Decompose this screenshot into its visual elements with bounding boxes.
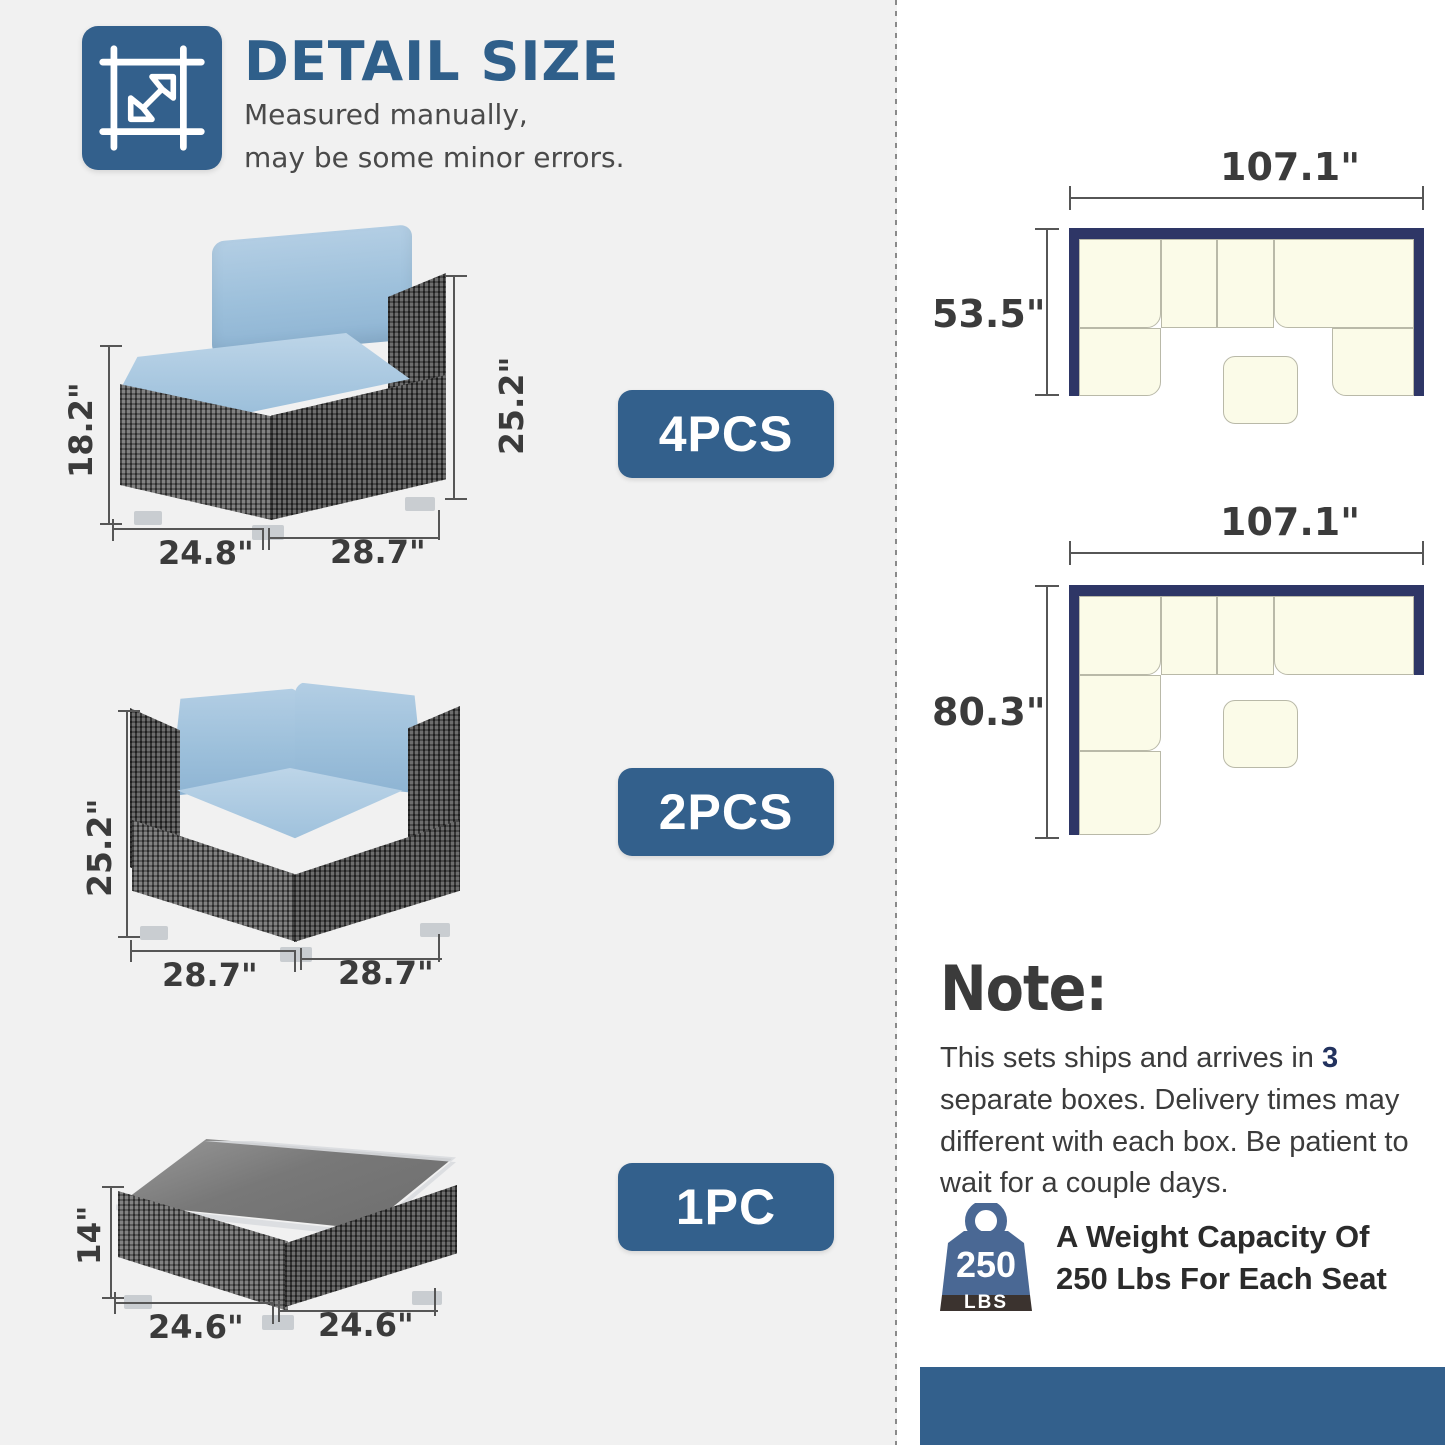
dim-label-table-width: 24.6" xyxy=(318,1306,414,1344)
dim-tick xyxy=(100,345,122,347)
dim-label-corner-height: 25.2" xyxy=(80,798,119,897)
svg-text:LBS: LBS xyxy=(964,1292,1008,1313)
dim-tick xyxy=(1422,186,1424,210)
plan-seat xyxy=(1217,596,1274,675)
dim-tick xyxy=(294,950,296,972)
plan-frame-right xyxy=(1414,585,1424,675)
plan-seat xyxy=(1079,596,1161,675)
dim-tick xyxy=(278,1300,280,1322)
plan-seat xyxy=(1079,239,1161,328)
dim-tick xyxy=(130,940,132,962)
badge-2pcs[interactable]: 2PCS xyxy=(618,768,834,856)
dim-tick xyxy=(300,948,302,970)
note-text-before: This sets ships and arrives in xyxy=(940,1042,1322,1074)
dim-tick xyxy=(272,1302,274,1324)
note-title: Note: xyxy=(940,952,1107,1025)
dim-label-total-height: 25.2" xyxy=(492,356,531,455)
back-cushion xyxy=(212,224,412,356)
armless-chair-illustration xyxy=(100,225,500,545)
dim-tick xyxy=(268,528,270,550)
plan-seat xyxy=(1079,675,1161,751)
corner-foot xyxy=(140,926,168,940)
header-text: DETAIL SIZE Measured manually, may be so… xyxy=(244,26,625,177)
page-title: DETAIL SIZE xyxy=(244,34,625,91)
dim-tick xyxy=(438,934,440,962)
dim-tick xyxy=(445,275,467,277)
plan-table xyxy=(1223,356,1298,424)
dim-tick xyxy=(438,510,440,540)
dim-line-total-height xyxy=(453,275,455,500)
layout2-depth-line xyxy=(1046,585,1048,839)
dim-label-corner-width: 28.7" xyxy=(338,954,434,992)
note-body: This sets ships and arrives in 3 separat… xyxy=(940,1038,1440,1205)
plan-seat xyxy=(1274,239,1414,328)
svg-text:250: 250 xyxy=(956,1244,1016,1285)
dim-tick xyxy=(112,519,114,541)
dim-line-corner-depth xyxy=(130,950,296,952)
badge-1pc[interactable]: 1PC xyxy=(618,1163,834,1251)
infographic-page: DETAIL SIZE Measured manually, may be so… xyxy=(0,0,1445,1445)
dim-label-table-depth: 24.6" xyxy=(148,1308,244,1346)
corner-foot xyxy=(420,923,450,937)
dim-tick xyxy=(1035,585,1059,587)
chair-foot xyxy=(134,511,162,525)
plan-frame-top xyxy=(1069,585,1424,596)
weight-capacity-line1: A Weight Capacity Of xyxy=(1056,1216,1387,1258)
dim-label-width: 28.7" xyxy=(330,533,426,571)
plan-table xyxy=(1223,700,1298,768)
weight-capacity-text: A Weight Capacity Of 250 Lbs For Each Se… xyxy=(1056,1216,1387,1300)
corner-base-left xyxy=(132,820,297,942)
dim-tick xyxy=(1069,186,1071,210)
dim-label-table-height: 14" xyxy=(72,1206,108,1265)
layout1-width-line xyxy=(1069,197,1424,199)
corner-chair-illustration xyxy=(110,670,505,960)
coffee-table-illustration xyxy=(112,1135,482,1325)
dim-tick xyxy=(262,528,264,550)
dim-tick xyxy=(1422,541,1424,565)
dim-line-table-height xyxy=(110,1186,112,1299)
plan-seat xyxy=(1161,596,1217,675)
header-subtitle-line2: may be some minor errors. xyxy=(244,140,625,177)
plan-seat xyxy=(1274,596,1414,675)
weight-capacity-line2: 250 Lbs For Each Seat xyxy=(1056,1258,1387,1300)
dim-label-corner-depth: 28.7" xyxy=(162,956,258,994)
layout1-depth-label: 53.5" xyxy=(932,292,1046,336)
plan-seat xyxy=(1217,239,1274,328)
weight-250lbs-icon: 250 LBS xyxy=(938,1203,1034,1313)
plan-frame-right xyxy=(1414,228,1424,396)
dim-tick xyxy=(1035,228,1059,230)
table-foot xyxy=(412,1291,442,1305)
plan-frame-left xyxy=(1069,228,1079,396)
layout1-width-label: 107.1" xyxy=(1220,145,1360,189)
dim-line-corner-height xyxy=(126,710,128,938)
dim-tick xyxy=(445,498,467,500)
dim-tick xyxy=(434,1288,436,1316)
l-shape-layout-diagram xyxy=(1069,585,1424,835)
dim-tick xyxy=(1035,837,1059,839)
note-bold-value: 3 xyxy=(1322,1042,1338,1074)
plan-seat xyxy=(1161,239,1217,328)
dim-label-depth: 24.8" xyxy=(158,534,254,572)
dim-label-seat-height: 18.2" xyxy=(62,382,100,478)
plan-frame-left xyxy=(1069,585,1079,835)
header-subtitle-line1: Measured manually, xyxy=(244,97,625,134)
header: DETAIL SIZE Measured manually, may be so… xyxy=(82,26,625,177)
badge-4pcs[interactable]: 4PCS xyxy=(618,390,834,478)
dim-tick xyxy=(100,523,122,525)
note-text-after: separate boxes. Delivery times may diffe… xyxy=(940,1084,1409,1200)
layout2-width-label: 107.1" xyxy=(1220,500,1360,544)
vertical-dotted-divider xyxy=(895,0,897,1445)
weight-capacity-row: 250 LBS A Weight Capacity Of 250 Lbs For… xyxy=(938,1203,1387,1313)
dim-line-table-depth xyxy=(114,1302,274,1304)
chair-foot xyxy=(405,497,435,511)
layout1-depth-line xyxy=(1046,228,1048,396)
dim-tick xyxy=(102,1297,124,1299)
resize-measure-icon xyxy=(82,26,222,170)
bottom-accent-bar xyxy=(920,1367,1445,1445)
dim-line-seat-height xyxy=(108,345,110,525)
dim-tick xyxy=(118,936,140,938)
plan-corner-seat xyxy=(1332,328,1414,396)
dim-tick xyxy=(1069,541,1071,565)
dim-tick xyxy=(118,710,140,712)
dim-tick xyxy=(1035,394,1059,396)
dim-tick xyxy=(102,1186,124,1188)
layout2-width-line xyxy=(1069,552,1424,554)
dim-tick xyxy=(114,1292,116,1314)
dim-line-depth xyxy=(112,528,264,530)
layout2-depth-label: 80.3" xyxy=(932,690,1046,734)
plan-corner-seat xyxy=(1079,328,1161,396)
plan-seat xyxy=(1079,751,1161,835)
plan-frame-top xyxy=(1069,228,1424,239)
u-shape-layout-diagram xyxy=(1069,228,1424,396)
